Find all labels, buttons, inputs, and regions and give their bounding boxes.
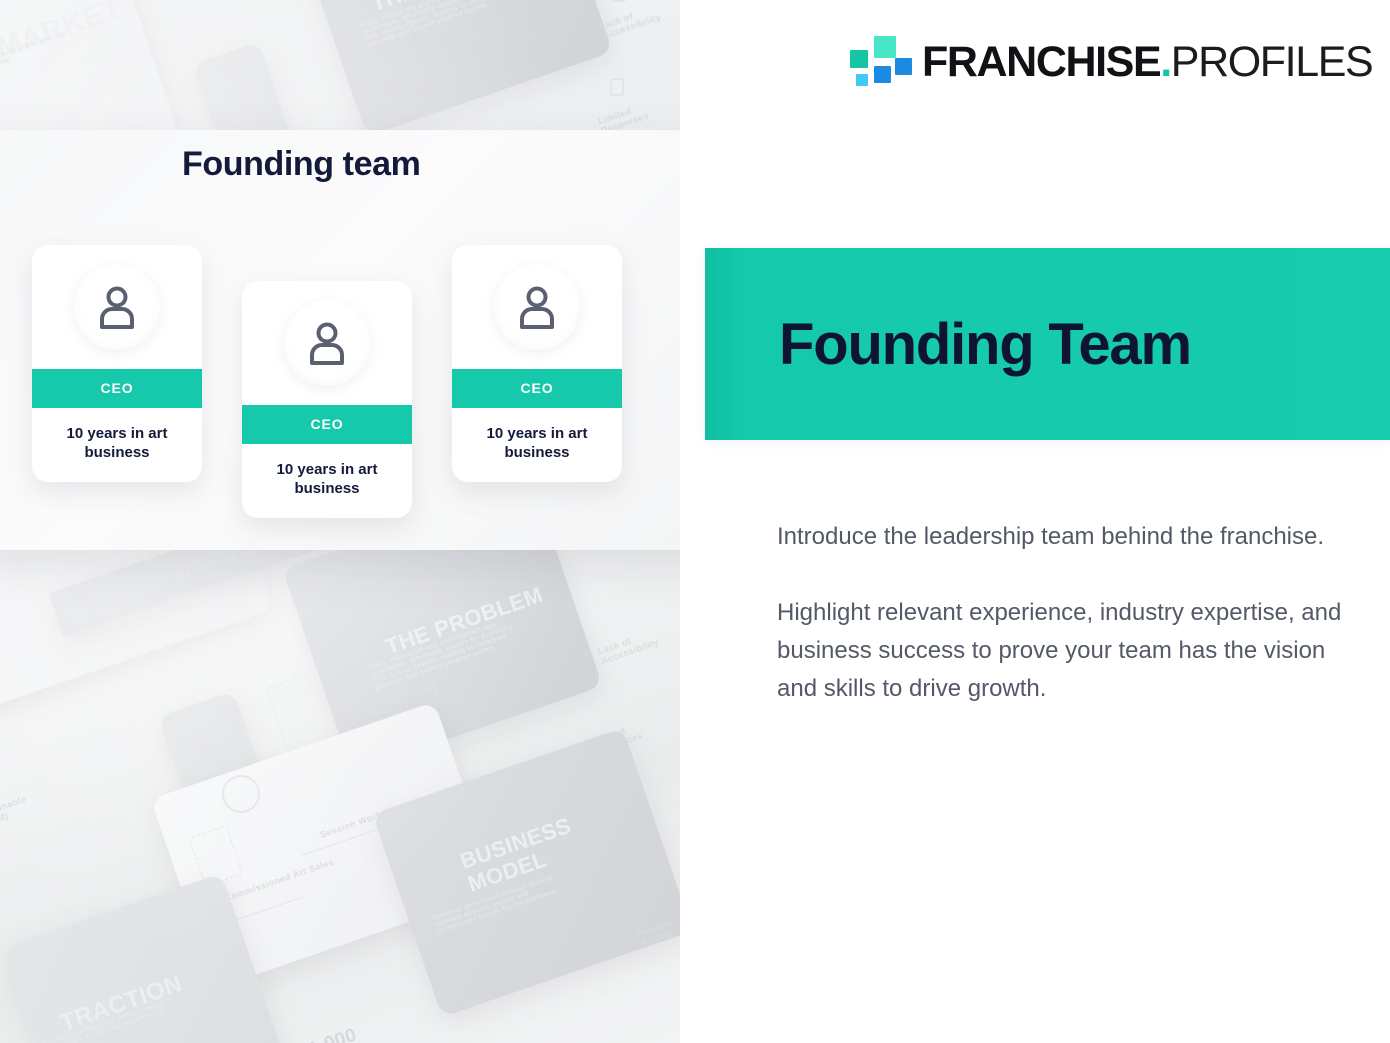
logo-word-dot: . (1160, 38, 1171, 86)
avatar (494, 264, 580, 350)
logo-square-mint (874, 36, 896, 58)
bg-label-drop-in-fees-2: Drop-in Fees (348, 691, 408, 720)
right-panel: FRANCHISE.PROFILES Founding Team Introdu… (680, 0, 1390, 1043)
slide-preview-title: Founding team (182, 145, 420, 184)
bg-label-commissioned-art-sales: Commissioned Art Sales (223, 857, 335, 904)
bg-label-limited-resources-2: Limited Resources (591, 714, 664, 756)
bg-label-flexible-pricing: Flexible Pricing (636, 912, 680, 949)
bg-dashed-box-mid (266, 636, 443, 764)
avatar-wrap (452, 245, 622, 369)
bg-dashed-box-revenue (189, 825, 244, 887)
avatar (74, 264, 160, 350)
bg-label-lack-accessibility-2: Lack of Accessibility (597, 624, 670, 666)
bg-icon-dollar (222, 775, 260, 813)
bg-slide-traction (4, 873, 287, 1043)
bg-divider-2 (212, 897, 302, 929)
slide-stage: MARKET differences in urban and is a sub… (0, 0, 1390, 1043)
description-paragraph-2: Highlight relevant experience, industry … (777, 594, 1347, 708)
logo-word-profiles: PROFILES (1171, 38, 1372, 86)
bg-icon-accessibility (612, 0, 626, 2)
person-icon (306, 321, 348, 365)
logo-square-blue-lower (874, 66, 891, 83)
person-icon (516, 285, 558, 329)
bg-icon-hourglass (610, 78, 624, 96)
bg-label-session-workshops: Session Workshops (319, 800, 410, 840)
bg-slide-accent-bar-mid (158, 691, 282, 859)
bg-label-the-problem: THE PROBLEM (368, 0, 532, 17)
person-icon (96, 285, 138, 329)
bg-slide-the-problem (297, 0, 613, 136)
logo-word-franchise: FRANCHISE (922, 38, 1160, 86)
member-caption: 10 years in art business (32, 408, 202, 482)
team-member-card[interactable]: CEO 10 years in art business (242, 281, 412, 518)
bg-label-business-model: BUSINESS MODEL (457, 815, 577, 896)
bg-label-traction: TRACTION (57, 970, 186, 1038)
description-paragraph-1: Introduce the leadership team behind the… (777, 518, 1347, 556)
role-badge: CEO (242, 405, 412, 444)
bg-text-business-model-body: Revenue generation through diverse strea… (432, 870, 571, 935)
team-member-card[interactable]: CEO 10 years in art business (452, 245, 622, 482)
bg-text-market-body: differences in urban and is a substantia… (0, 23, 89, 75)
bg-divider-1 (302, 825, 387, 855)
section-banner: Founding Team (705, 248, 1390, 440)
team-member-card[interactable]: CEO 10 years in art business (32, 245, 202, 482)
bg-label-market: MARKET (0, 0, 127, 66)
bg-slide-revenue (151, 702, 500, 989)
slide-preview-panel: Founding team CEO 10 years in art busine… (0, 130, 705, 550)
bg-text-traction-body: Significant milestones demonstrating the… (42, 999, 172, 1043)
description-block: Introduce the leadership team behind the… (777, 518, 1347, 708)
role-badge: CEO (32, 369, 202, 408)
member-caption: 10 years in art business (242, 444, 412, 518)
bg-label-the-problem-2: THE PROBLEM (382, 582, 546, 660)
logo-square-blue-right (895, 58, 912, 75)
logo-square-teal-dark (850, 50, 868, 68)
logo-squares-icon (850, 34, 908, 90)
brand-logo[interactable]: FRANCHISE.PROFILES (850, 34, 1372, 90)
bg-label-lack-accessibility: Lack of Accessibility (599, 0, 672, 41)
avatar-wrap (242, 281, 412, 405)
member-caption: 10 years in art business (452, 408, 622, 482)
logo-wordmark: FRANCHISE.PROFILES (922, 41, 1372, 84)
bg-label-obtainable-som: Obtainable (SOM) (0, 791, 40, 829)
bg-text-problem-body-2: Many individuals and communities lack ac… (368, 616, 519, 691)
role-badge: CEO (452, 369, 622, 408)
bg-stat-monthly-visitors-value: 1,000 (306, 1025, 360, 1043)
logo-square-light-blue (856, 74, 868, 86)
avatar (284, 300, 370, 386)
bg-slide-business-model (372, 728, 680, 1018)
page-title: Founding Team (779, 311, 1191, 378)
avatar-wrap (32, 245, 202, 369)
bg-text-problem-body: Many individuals and communities lack ac… (360, 0, 520, 49)
